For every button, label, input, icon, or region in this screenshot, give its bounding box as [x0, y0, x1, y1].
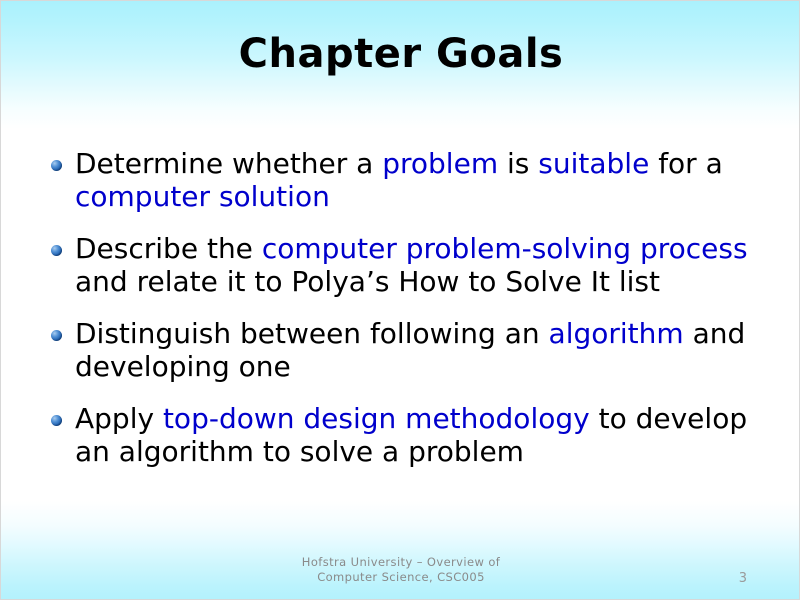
slide-number: 3 — [739, 571, 747, 586]
body-text-run: Apply — [75, 402, 163, 435]
bullet-text: Distinguish between following an algorit… — [75, 317, 761, 383]
bullet-text: Apply top-down design methodology to dev… — [75, 402, 761, 468]
bullet-sphere-icon — [51, 245, 62, 256]
page-title: Chapter Goals — [239, 31, 564, 77]
bullet-text: Describe the computer problem-solving pr… — [75, 232, 761, 298]
body-text-run: for a — [649, 147, 722, 180]
list-item: Determine whether a problem is suitable … — [45, 147, 761, 213]
bullet-text: Determine whether a problem is suitable … — [75, 147, 761, 213]
highlighted-term: computer problem-solving process — [262, 232, 748, 265]
highlighted-term: suitable — [538, 147, 649, 180]
footer: Hofstra University – Overview of Compute… — [1, 555, 800, 585]
list-item: Describe the computer problem-solving pr… — [45, 232, 761, 298]
highlighted-term: algorithm — [549, 317, 684, 350]
highlighted-term: problem — [382, 147, 498, 180]
list-item: Distinguish between following an algorit… — [45, 317, 761, 383]
body-text-run: Describe the — [75, 232, 262, 265]
list-item: Apply top-down design methodology to dev… — [45, 402, 761, 468]
presentation-slide: Chapter Goals Determine whether a proble… — [0, 0, 800, 600]
bullet-sphere-icon — [51, 330, 62, 341]
body-text-run: is — [498, 147, 538, 180]
bullet-sphere-icon — [51, 160, 62, 171]
highlighted-term: computer solution — [75, 180, 330, 213]
bullet-sphere-icon — [51, 415, 62, 426]
body-text-run: Determine whether a — [75, 147, 382, 180]
footer-line-1: Hofstra University – Overview of — [1, 555, 800, 570]
body-text-run: Distinguish between following an — [75, 317, 549, 350]
bullet-list: Determine whether a problem is suitable … — [45, 147, 761, 468]
body-text-run: and relate it to Polya’s How to Solve It… — [75, 265, 660, 298]
highlighted-term: top-down design methodology — [163, 402, 590, 435]
footer-line-2: Computer Science, CSC005 — [1, 570, 800, 585]
slide-title-area: Chapter Goals — [1, 31, 800, 77]
